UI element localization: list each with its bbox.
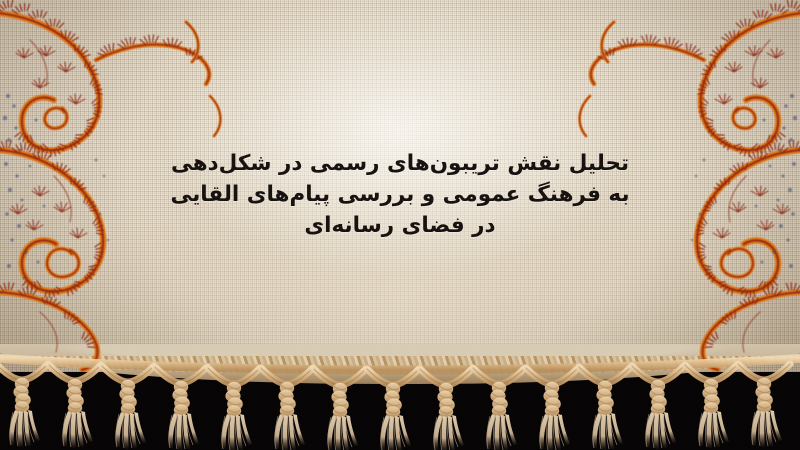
slide-title: تحلیل نقش تریبون‌های رسمی در شکل‌دهی به …	[0, 148, 800, 241]
slide-canvas: تحلیل نقش تریبون‌های رسمی در شکل‌دهی به …	[0, 0, 800, 450]
knotted-tassel-fringe	[0, 352, 800, 450]
title-line-1: تحلیل نقش تریبون‌های رسمی در شکل‌دهی	[0, 148, 800, 179]
title-line-3: در فضای رسانه‌ای	[0, 210, 800, 241]
title-line-2: به فرهنگ عمومی و بررسی پیام‌های القایی	[0, 179, 800, 210]
